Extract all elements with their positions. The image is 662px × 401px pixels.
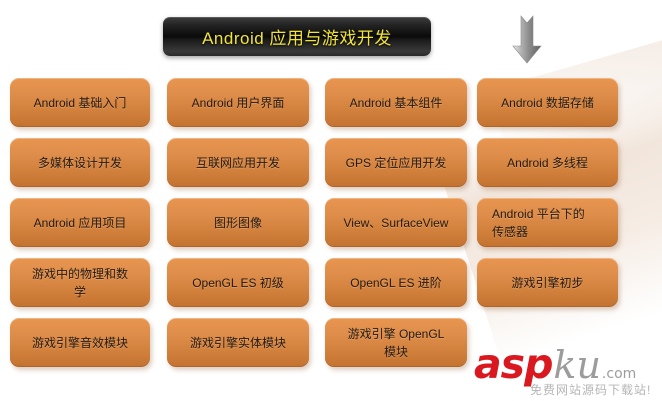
topic-box[interactable]: GPS 定位应用开发 (325, 138, 467, 187)
topic-label: 图形图像 (214, 214, 262, 232)
topic-label: GPS 定位应用开发 (346, 154, 447, 172)
watermark-tagline: 免费网站源码下载站! (530, 381, 651, 398)
arrow-down-icon (510, 14, 544, 66)
topic-box[interactable]: 游戏引擎初步 (477, 258, 618, 307)
topic-label: Android 应用项目 (34, 214, 127, 232)
topic-label: 互联网应用开发 (196, 154, 280, 172)
topic-box[interactable]: OpenGL ES 初级 (167, 258, 309, 307)
topic-box[interactable]: 游戏引擎实体模块 (167, 318, 309, 367)
topic-box[interactable]: Android 基础入门 (10, 78, 150, 127)
topic-label: Android 平台下的 传感器 (484, 205, 611, 241)
topic-label: Android 用户界面 (192, 94, 285, 112)
topic-label: 游戏引擎初步 (511, 274, 583, 292)
topic-row: 多媒体设计开发 互联网应用开发 GPS 定位应用开发 Android 多线程 (0, 138, 662, 198)
watermark-logo: asp ku .com 免费网站源码下载站! (474, 343, 660, 399)
topic-box[interactable]: View、SurfaceView (325, 198, 467, 247)
topic-label: Android 数据存储 (501, 94, 594, 112)
topic-box[interactable]: Android 基本组件 (325, 78, 467, 127)
topic-box[interactable]: 互联网应用开发 (167, 138, 309, 187)
watermark-asp: asp (474, 343, 552, 385)
topic-row: Android 基础入门 Android 用户界面 Android 基本组件 A… (0, 78, 662, 138)
topic-box[interactable]: 图形图像 (167, 198, 309, 247)
topic-label: OpenGL ES 进阶 (350, 274, 442, 292)
topic-box[interactable]: 游戏引擎 OpenGL 模块 (325, 318, 467, 367)
topic-label: 多媒体设计开发 (38, 154, 122, 172)
topic-label: 游戏引擎 OpenGL 模块 (348, 325, 445, 361)
topic-box[interactable]: Android 多线程 (477, 138, 618, 187)
topic-label: 游戏中的物理和数 学 (32, 265, 128, 301)
topic-label: Android 多线程 (507, 154, 588, 172)
watermark-ku: ku (553, 344, 601, 386)
page-title: Android 应用与游戏开发 (202, 24, 392, 49)
topic-label: Android 基础入门 (34, 94, 127, 112)
slide-canvas: Android 应用与游戏开发 Android 基础入门 Android 用户界… (0, 0, 662, 401)
topic-row: Android 应用项目 图形图像 View、SurfaceView Andro… (0, 198, 662, 258)
topic-box[interactable]: 多媒体设计开发 (10, 138, 150, 187)
topic-label: 游戏引擎音效模块 (32, 334, 128, 352)
topic-grid: Android 基础入门 Android 用户界面 Android 基本组件 A… (0, 78, 662, 378)
topic-box[interactable]: Android 平台下的 传感器 (477, 198, 618, 247)
topic-box[interactable]: Android 应用项目 (10, 198, 150, 247)
topic-box[interactable]: 游戏中的物理和数 学 (10, 258, 150, 307)
topic-row: 游戏中的物理和数 学 OpenGL ES 初级 OpenGL ES 进阶 游戏引… (0, 258, 662, 318)
title-banner: Android 应用与游戏开发 (163, 17, 431, 56)
watermark-wordmark: asp ku .com (474, 343, 636, 386)
topic-box[interactable]: 游戏引擎音效模块 (10, 318, 150, 367)
topic-label: OpenGL ES 初级 (192, 274, 284, 292)
topic-label: 游戏引擎实体模块 (190, 334, 286, 352)
topic-label: View、SurfaceView (344, 214, 449, 232)
topic-box[interactable]: Android 用户界面 (167, 78, 309, 127)
topic-box[interactable]: OpenGL ES 进阶 (325, 258, 467, 307)
topic-box[interactable]: Android 数据存储 (477, 78, 618, 127)
watermark-com: .com (602, 366, 636, 382)
topic-label: Android 基本组件 (350, 94, 443, 112)
